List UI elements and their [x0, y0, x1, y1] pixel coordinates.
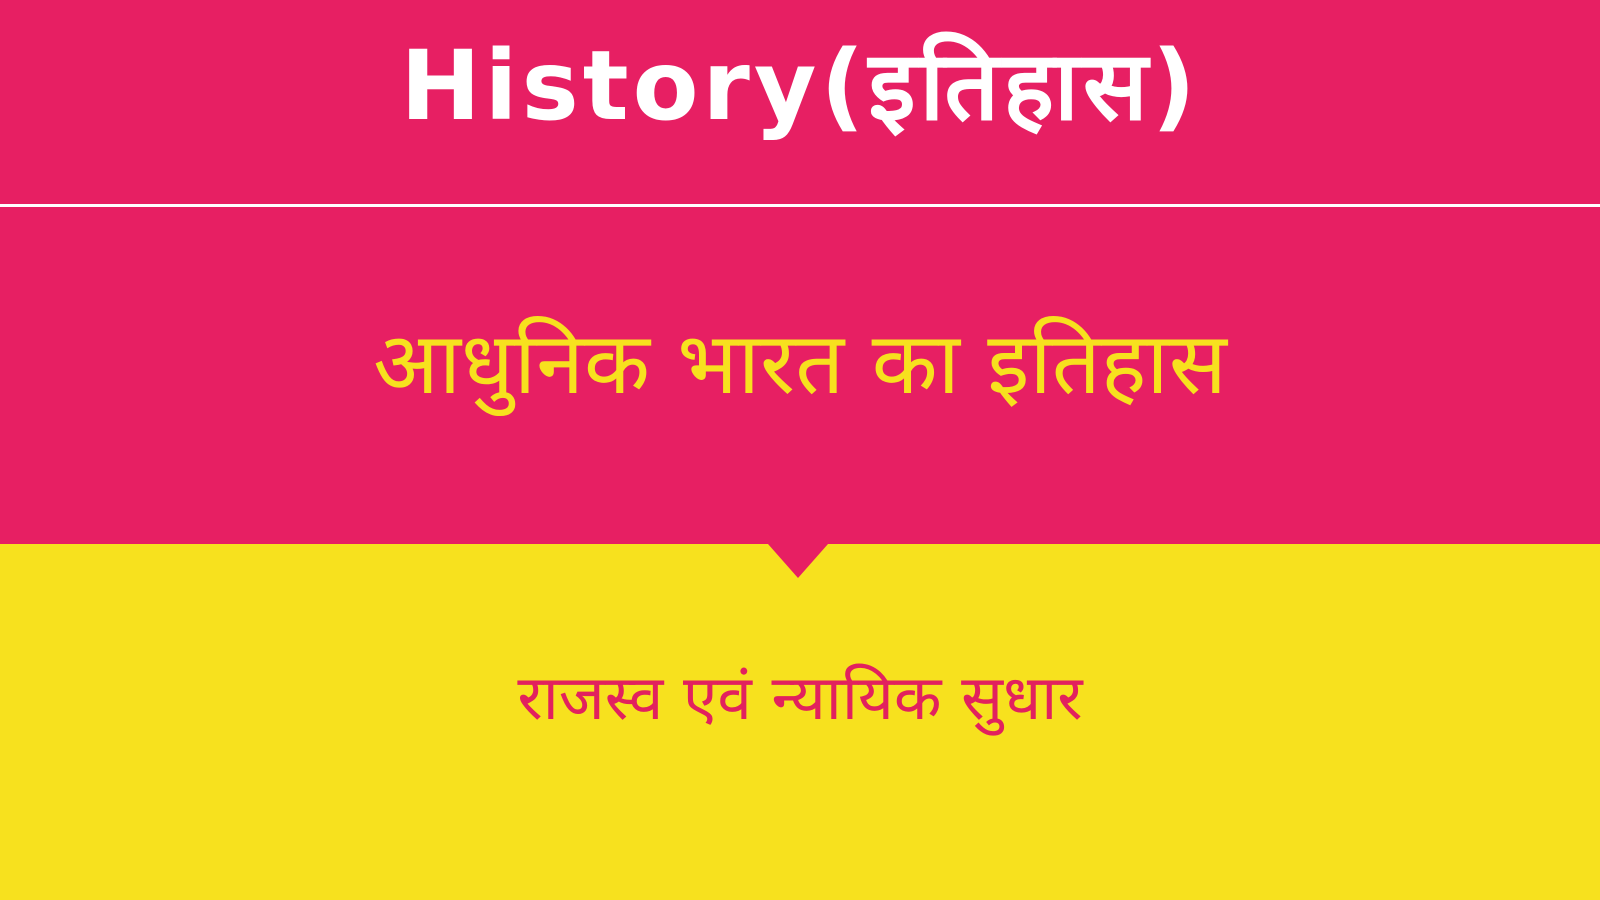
presentation-slide: History(इतिहास) आधुनिक भारत का इतिहास रा… — [0, 0, 1600, 900]
title-divider-rule — [0, 204, 1600, 207]
chevron-down-icon — [768, 544, 828, 578]
page-title: History(इतिहास) — [0, 26, 1600, 146]
slide-caption: राजस्व एवं न्यायिक सुधार — [0, 652, 1600, 744]
slide-subtitle: आधुनिक भारत का इतिहास — [0, 300, 1600, 428]
